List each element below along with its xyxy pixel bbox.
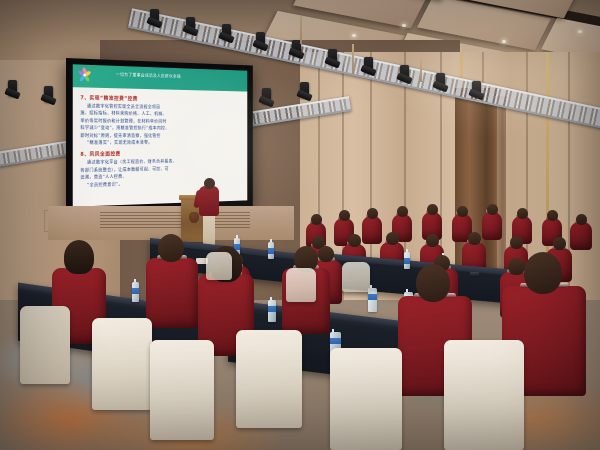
projection-screen: 一切为了董事会成员及人民群众幸福 7、实现“精准控费”控费 通过数字化管控实现全… bbox=[66, 58, 253, 214]
audience-head bbox=[386, 232, 399, 245]
chair bbox=[286, 268, 316, 302]
audience-head bbox=[158, 234, 184, 262]
audience-head bbox=[416, 264, 450, 302]
audience-member-foreground bbox=[146, 258, 198, 328]
stage-light-icon bbox=[44, 86, 53, 102]
audience-head bbox=[524, 252, 562, 294]
pinwheel-flower-logo-icon bbox=[77, 66, 93, 83]
downlight-icon bbox=[502, 40, 506, 43]
slide-line: 科学减少“变动”，用精准管控执行“成本内控、 bbox=[80, 125, 242, 133]
slide-line: “精准落实”，实现无效成本清零。 bbox=[80, 140, 242, 148]
audience-head bbox=[367, 208, 378, 219]
stage-light-icon bbox=[262, 88, 271, 104]
presentation-slide: 一切为了董事会成员及人民群众幸福 7、实现“精准控费”控费 通过数字化管控实现全… bbox=[73, 64, 248, 207]
ceiling-drop-rod bbox=[420, 56, 422, 82]
speaker-head bbox=[204, 178, 215, 189]
speaker-torso bbox=[199, 186, 219, 216]
chair bbox=[444, 340, 524, 450]
downlight-icon bbox=[578, 30, 582, 33]
stage-light-icon bbox=[472, 81, 481, 97]
audience-head bbox=[487, 204, 498, 215]
audience-head bbox=[397, 206, 408, 217]
stage-grille bbox=[100, 212, 250, 228]
ceiling-drop-rod bbox=[300, 16, 302, 44]
chair bbox=[330, 348, 402, 450]
water-bottle bbox=[132, 282, 139, 302]
slide-header-title: 一切为了董事会成员及人民群众幸福 bbox=[116, 72, 244, 82]
stage-light-icon bbox=[364, 57, 373, 73]
slide-header-band: 一切为了董事会成员及人民群众幸福 bbox=[73, 64, 248, 91]
conference-hall-photo: 一切为了董事会成员及人民群众幸福 7、实现“精准控费”控费 通过数字化管控实现全… bbox=[0, 0, 600, 450]
chair bbox=[342, 262, 370, 292]
chair bbox=[92, 318, 152, 410]
chair bbox=[206, 252, 232, 280]
audience-head bbox=[547, 210, 558, 221]
stage-light-icon bbox=[436, 73, 445, 89]
chair bbox=[20, 306, 70, 384]
stage-light-icon bbox=[328, 49, 337, 65]
audience-head bbox=[468, 232, 481, 245]
stage-light-icon bbox=[222, 24, 231, 40]
chair bbox=[236, 330, 302, 428]
podium-emblem-icon bbox=[189, 212, 199, 223]
stage-light-icon bbox=[256, 32, 265, 48]
slide-body: 7、实现“精准控费”控费 通过数字化管控实现全员全流程全项目 施、招标指标、材料… bbox=[73, 87, 248, 190]
stage-light-icon bbox=[150, 9, 159, 25]
audience-head bbox=[427, 204, 438, 215]
stage-light-icon bbox=[300, 82, 309, 98]
speaker-legs bbox=[203, 212, 215, 246]
audience-hair bbox=[64, 240, 94, 274]
stage-light-icon bbox=[400, 65, 409, 81]
water-bottle bbox=[268, 300, 276, 322]
water-bottle bbox=[368, 288, 377, 312]
downlight-icon bbox=[402, 24, 406, 27]
audience-head bbox=[517, 208, 528, 219]
downlight-icon bbox=[352, 34, 356, 37]
audience-head bbox=[457, 206, 468, 217]
audience-head bbox=[318, 246, 334, 262]
audience-head bbox=[508, 258, 525, 275]
audience-head bbox=[339, 210, 350, 221]
ceiling-drop-rod bbox=[352, 44, 354, 74]
slide-line: 8、风风全面控费 bbox=[80, 150, 242, 158]
chair bbox=[150, 340, 214, 440]
stage-light-icon bbox=[186, 17, 195, 33]
stage-light-icon bbox=[8, 80, 17, 96]
